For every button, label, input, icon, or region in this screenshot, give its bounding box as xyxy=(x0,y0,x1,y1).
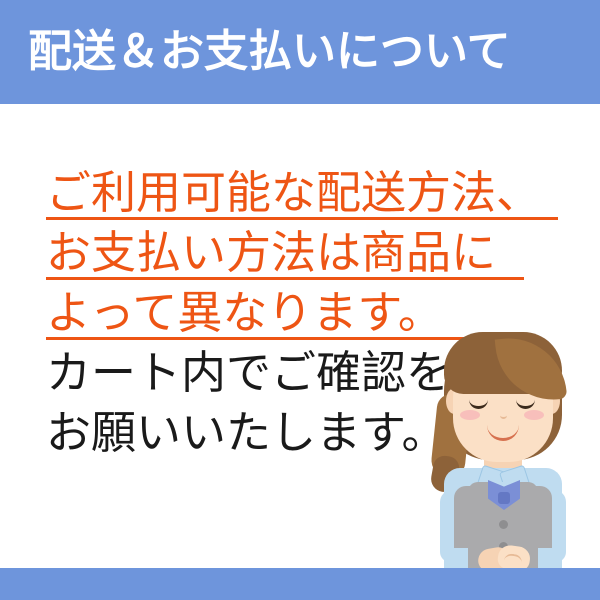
blush-left xyxy=(460,410,480,420)
vest-button-1 xyxy=(499,520,508,529)
blush-right xyxy=(524,410,544,420)
underline-rule-2 xyxy=(46,277,524,280)
underline-rule-1 xyxy=(46,217,558,220)
ribbon-knot xyxy=(498,492,510,504)
copy-line-wrap-1: ご利用可能な配送方法、 xyxy=(46,163,566,223)
copy-line-2: お支払い方法は商品に xyxy=(46,223,566,283)
nose xyxy=(500,412,507,419)
bottom-banner xyxy=(0,568,600,600)
page-root: 配送＆お支払いについて ご利用可能な配送方法、 お支払い方法は商品に よって異な… xyxy=(0,0,600,600)
staff-illustration xyxy=(406,330,600,570)
copy-line-1: ご利用可能な配送方法、 xyxy=(46,163,566,223)
top-banner: 配送＆お支払いについて xyxy=(0,0,600,104)
page-title: 配送＆お支払いについて xyxy=(28,24,511,80)
copy-line-wrap-2: お支払い方法は商品に xyxy=(46,223,566,283)
